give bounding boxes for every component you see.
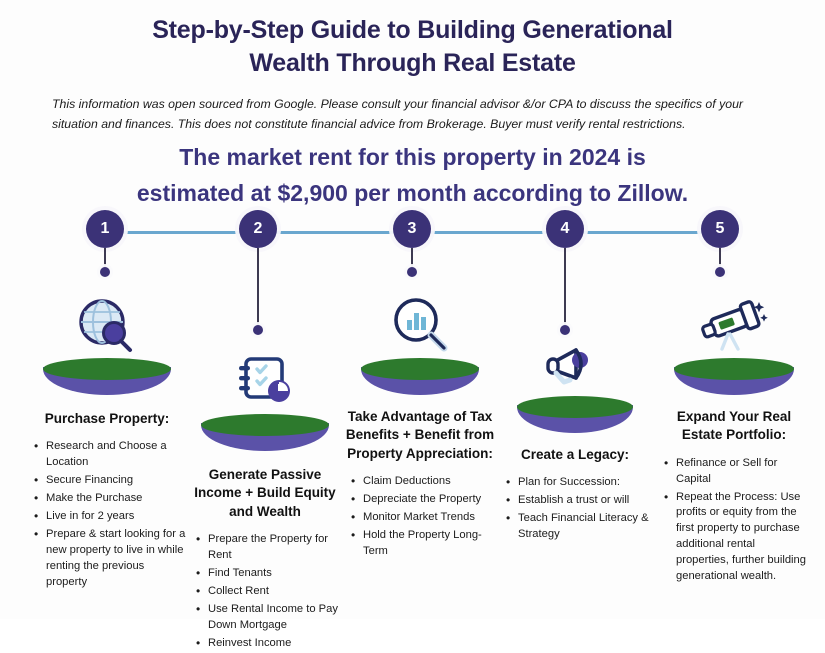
step-5-bullets: Refinance or Sell for Capital Repeat the… xyxy=(658,456,810,585)
timeline-node-5[interactable]: 5 xyxy=(701,210,739,248)
step-column-3: Take Advantage of Tax Benefits + Benefit… xyxy=(345,292,495,562)
timeline-node-2-label: 2 xyxy=(254,220,263,238)
timeline-node-3-label: 3 xyxy=(408,220,417,238)
page-title-line2: Wealth Through Real Estate xyxy=(0,47,825,80)
step-2-bullets: Prepare the Property for Rent Find Tenan… xyxy=(190,532,340,651)
telescope-icon xyxy=(696,296,772,354)
pedestal-top xyxy=(517,396,633,418)
list-item: Collect Rent xyxy=(208,584,340,600)
step-4-bullets: Plan for Succession: Establish a trust o… xyxy=(500,475,650,543)
step-4-pedestal xyxy=(517,396,633,434)
list-item: Hold the Property Long-Term xyxy=(363,528,495,560)
page-title-line1: Step-by-Step Guide to Building Generatio… xyxy=(152,16,673,44)
step-column-1: Purchase Property: Research and Choose a… xyxy=(28,292,186,593)
market-rent-subtitle: The market rent for this property in 202… xyxy=(0,140,825,211)
step-5-icon-wrap xyxy=(658,292,810,354)
step-5-heading: Expand Your Real Estate Portfolio: xyxy=(658,408,810,445)
list-item: Establish a trust or will xyxy=(518,493,650,509)
timeline-node-4[interactable]: 4 xyxy=(546,210,584,248)
disclaimer-text: This information was open sourced from G… xyxy=(52,95,777,135)
list-item: Secure Financing xyxy=(46,473,186,489)
list-item: Teach Financial Literacy & Strategy xyxy=(518,511,650,543)
chart-magnifier-icon xyxy=(387,296,453,354)
timeline-node-3[interactable]: 3 xyxy=(393,210,431,248)
list-item: Make the Purchase xyxy=(46,491,186,507)
timeline-stem-4 xyxy=(564,248,566,330)
timeline-stem-5 xyxy=(719,248,721,272)
timeline-stem-1 xyxy=(104,248,106,272)
timeline-node-1[interactable]: 1 xyxy=(86,210,124,248)
step-4-heading: Create a Legacy: xyxy=(500,446,650,464)
step-column-4: Create a Legacy: Plan for Succession: Es… xyxy=(500,330,650,545)
list-item: Repeat the Process: Use profits or equit… xyxy=(676,490,810,585)
timeline-stem-dot-3 xyxy=(407,267,417,277)
step-3-bullets: Claim Deductions Depreciate the Property… xyxy=(345,474,495,560)
list-item: Prepare the Property for Rent xyxy=(208,532,340,564)
timeline-stem-dot-5 xyxy=(715,267,725,277)
page-title: Step-by-Step Guide to Building Generatio… xyxy=(0,14,825,80)
list-item: Live in for 2 years xyxy=(46,509,186,525)
list-item: Find Tenants xyxy=(208,566,340,582)
step-5-pedestal xyxy=(674,358,794,396)
pedestal-top xyxy=(43,358,171,380)
timeline-node-4-label: 4 xyxy=(561,220,570,238)
list-item: Claim Deductions xyxy=(363,474,495,490)
timeline-stem-dot-1 xyxy=(100,267,110,277)
list-item: Prepare & start looking for a new proper… xyxy=(46,527,186,591)
pedestal-top xyxy=(201,414,329,436)
step-1-bullets: Research and Choose a Location Secure Fi… xyxy=(28,439,186,590)
step-column-2: Generate Passive Income + Build Equity a… xyxy=(190,348,340,653)
list-item: Monitor Market Trends xyxy=(363,510,495,526)
step-3-heading: Take Advantage of Tax Benefits + Benefit… xyxy=(345,408,495,463)
step-3-pedestal xyxy=(361,358,479,396)
step-1-icon-wrap xyxy=(28,292,186,354)
list-item: Use Rental Income to Pay Down Mortgage xyxy=(208,602,340,634)
step-column-5: Expand Your Real Estate Portfolio: Refin… xyxy=(658,292,810,587)
step-2-pedestal xyxy=(201,414,329,454)
list-item: Reinvest Income xyxy=(208,636,340,652)
timeline-stem-dot-2 xyxy=(253,325,263,335)
market-rent-line2: estimated at $2,900 per month according … xyxy=(0,176,825,212)
list-item: Plan for Succession: xyxy=(518,475,650,491)
pedestal-top xyxy=(674,358,794,380)
market-rent-line1: The market rent for this property in 202… xyxy=(179,144,646,170)
globe-magnifier-icon xyxy=(70,296,144,354)
timeline-node-1-label: 1 xyxy=(101,220,110,238)
step-2-heading: Generate Passive Income + Build Equity a… xyxy=(190,466,340,521)
list-item: Research and Choose a Location xyxy=(46,439,186,471)
list-item: Refinance or Sell for Capital xyxy=(676,456,810,488)
step-1-pedestal xyxy=(43,358,171,398)
timeline-stem-3 xyxy=(411,248,413,272)
megaphone-icon xyxy=(542,340,608,392)
infographic-page: Step-by-Step Guide to Building Generatio… xyxy=(0,0,825,619)
step-4-icon-wrap xyxy=(500,330,650,392)
list-item: Depreciate the Property xyxy=(363,492,495,508)
timeline-stem-2 xyxy=(257,248,259,330)
step-3-icon-wrap xyxy=(345,292,495,354)
step-2-icon-wrap xyxy=(190,348,340,410)
checklist-clock-icon xyxy=(232,354,298,410)
timeline-node-2[interactable]: 2 xyxy=(239,210,277,248)
step-1-heading: Purchase Property: xyxy=(28,410,186,428)
pedestal-top xyxy=(361,358,479,380)
timeline-node-5-label: 5 xyxy=(716,220,725,238)
